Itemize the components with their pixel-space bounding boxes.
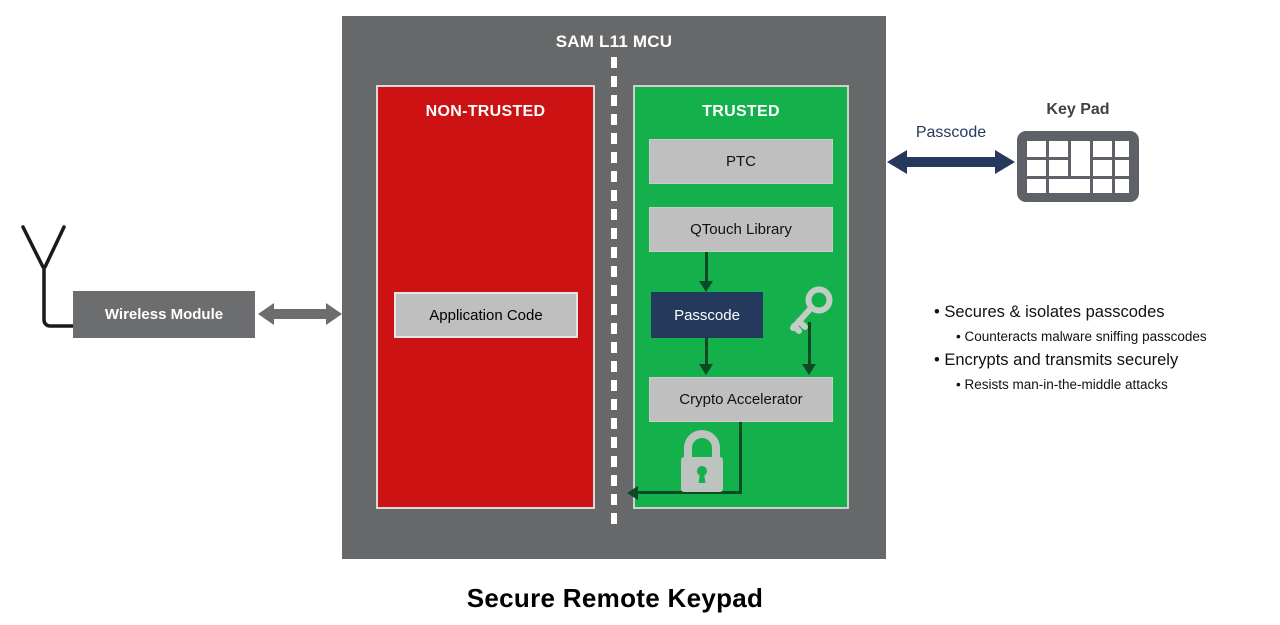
feature-bullet-list: • Secures & isolates passcodes • Counter… xyxy=(934,300,1274,396)
trusted-zone-label: TRUSTED xyxy=(633,103,849,121)
trust-boundary-divider xyxy=(611,57,617,524)
application-code-label: Application Code xyxy=(429,307,542,324)
diagram-caption: Secure Remote Keypad xyxy=(0,583,1230,614)
wireless-link-arrow xyxy=(256,298,344,330)
qtouch-to-passcode-arrow-line xyxy=(705,252,708,284)
bullet-item: • Encrypts and transmits securely xyxy=(934,348,1274,373)
bullet-item: • Counteracts malware sniffing passcodes xyxy=(956,325,1274,348)
bullet-text: Encrypts and transmits securely xyxy=(944,351,1178,369)
bullet-item: • Resists man-in-the-middle attacks xyxy=(956,373,1274,396)
passcode-label: Passcode xyxy=(674,307,740,324)
bullet-text: Counteracts malware sniffing passcodes xyxy=(964,329,1206,344)
crypto-accelerator-label: Crypto Accelerator xyxy=(679,391,802,408)
ptc-block: PTC xyxy=(649,139,833,184)
crypto-output-arrow-vertical xyxy=(739,422,742,494)
diagram-canvas: SAM L11 MCU NON-TRUSTED Application Code… xyxy=(0,0,1280,625)
crypto-accelerator-block: Crypto Accelerator xyxy=(649,377,833,422)
crypto-output-arrow-head xyxy=(627,486,638,500)
bullet-item: • Secures & isolates passcodes xyxy=(934,300,1274,325)
qtouch-to-passcode-arrow-head xyxy=(699,281,713,292)
wireless-module-label: Wireless Module xyxy=(105,306,223,323)
qtouch-library-label: QTouch Library xyxy=(690,221,792,238)
lock-icon xyxy=(674,430,730,494)
bullet-text: Resists man-in-the-middle attacks xyxy=(964,377,1167,392)
qtouch-library-block: QTouch Library xyxy=(649,207,833,252)
key-icon xyxy=(786,286,836,338)
keypad-title: Key Pad xyxy=(1012,101,1144,119)
ptc-label: PTC xyxy=(726,153,756,170)
passcode-link-label: Passcode xyxy=(885,124,1017,142)
application-code-block: Application Code xyxy=(394,292,578,338)
key-to-crypto-arrow-head xyxy=(802,364,816,375)
passcode-to-crypto-arrow-line xyxy=(705,338,708,366)
passcode-block: Passcode xyxy=(651,292,763,338)
passcode-to-crypto-arrow-head xyxy=(699,364,713,375)
non-trusted-zone-label: NON-TRUSTED xyxy=(376,103,595,121)
bullet-text: Secures & isolates passcodes xyxy=(944,303,1164,321)
antenna-icon xyxy=(14,222,80,332)
wireless-module-block: Wireless Module xyxy=(73,291,255,338)
passcode-link-arrow xyxy=(885,145,1017,179)
mcu-title: SAM L11 MCU xyxy=(342,32,886,52)
keypad-icon xyxy=(1016,130,1140,203)
